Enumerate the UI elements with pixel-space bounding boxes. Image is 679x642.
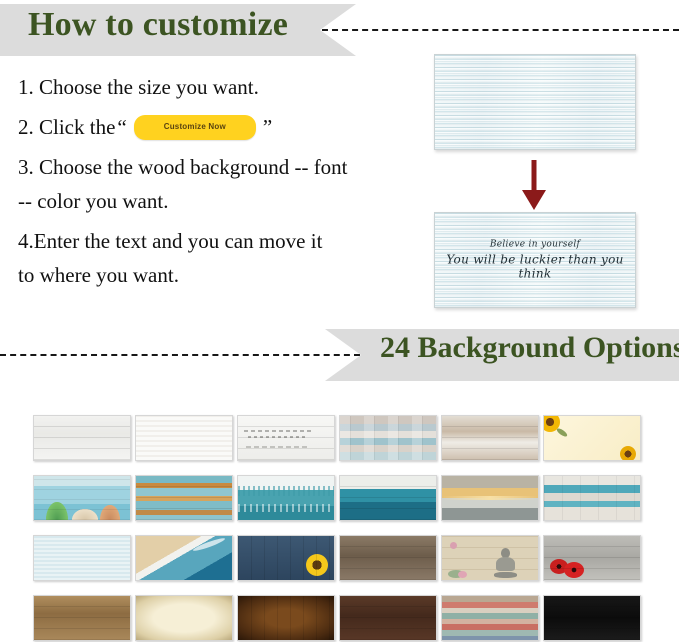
steps-list: 1. Choose the size you want. 2. Click th…: [18, 70, 408, 298]
blank-sign-preview: [434, 54, 634, 150]
thumb-blue-gray-plank-mosaic[interactable]: [339, 415, 437, 461]
page-title: How to customize: [28, 6, 288, 44]
thumb-navy-plank-sunflower[interactable]: [237, 535, 335, 581]
thumb-multicolor-striped-wood[interactable]: [441, 595, 539, 641]
thumb-underwater-coral-reef[interactable]: [33, 475, 131, 521]
customized-sign-preview: Believe in yourself You will be luckier …: [434, 212, 634, 308]
step-3: 3. Choose the wood background -- font --…: [18, 150, 408, 218]
thumb-white-washed-planks[interactable]: [33, 415, 131, 461]
thumb-teal-orange-peeling-wood[interactable]: [135, 475, 233, 521]
customize-now-button[interactable]: Customize Now: [134, 115, 256, 140]
sign-line-1: Believe in yourself: [435, 240, 635, 250]
thumb-gray-wood-red-poppies[interactable]: [543, 535, 641, 581]
background-options-title: 24 Background Options: [380, 331, 679, 365]
open-quote: “: [117, 117, 126, 138]
sign-line-2: You will be luckier than you think: [435, 253, 635, 281]
step-4: 4.Enter the text and you can move it to …: [18, 224, 408, 292]
lotus-icon: [450, 542, 457, 549]
sunflower-icon: [306, 554, 328, 576]
dashed-divider-top: [322, 29, 679, 31]
arrow-down-icon: [434, 160, 634, 212]
thumb-cream-parchment[interactable]: [135, 595, 233, 641]
poppy-icon: [550, 559, 568, 574]
thumb-teal-ombre-wave[interactable]: [339, 475, 437, 521]
lotus-icon: [458, 571, 467, 578]
close-quote: ”: [263, 117, 272, 138]
step-2-prefix: 2. Click the: [18, 110, 115, 144]
thumb-dark-brown-grunge[interactable]: [237, 595, 335, 641]
thumb-light-blue-wood[interactable]: [33, 535, 131, 581]
thumb-white-wood-with-script[interactable]: [237, 415, 335, 461]
thumb-golden-sunset-seascape[interactable]: [441, 475, 539, 521]
thumb-black-wood[interactable]: [543, 595, 641, 641]
thumb-beach-shoreline[interactable]: [135, 535, 233, 581]
thumb-distressed-taupe-wood[interactable]: [441, 415, 539, 461]
sign-text-block: Believe in yourself You will be luckier …: [435, 240, 635, 281]
blank-wood-sign: [434, 54, 636, 150]
thumb-plain-white-wood[interactable]: [135, 415, 233, 461]
buddha-silhouette: [494, 548, 516, 578]
thumb-rustic-brown-planks[interactable]: [33, 595, 131, 641]
customized-wood-sign: Believe in yourself You will be luckier …: [434, 212, 636, 308]
thumb-teal-white-planks[interactable]: [543, 475, 641, 521]
poppy-icon: [564, 562, 584, 578]
step-2: 2. Click the “ Customize Now ”: [18, 110, 408, 144]
thumb-weathered-brown-wood[interactable]: [339, 535, 437, 581]
thumb-buddha-zen-scene[interactable]: [441, 535, 539, 581]
thumb-teal-splash-texture[interactable]: [237, 475, 335, 521]
thumb-cream-sunflower[interactable]: [543, 415, 641, 461]
step-1: 1. Choose the size you want.: [18, 70, 408, 104]
thumb-dark-walnut-planks[interactable]: [339, 595, 437, 641]
sunflower-icon: [620, 446, 636, 461]
background-options-grid: [33, 415, 641, 641]
dashed-divider-bottom: [0, 354, 360, 356]
